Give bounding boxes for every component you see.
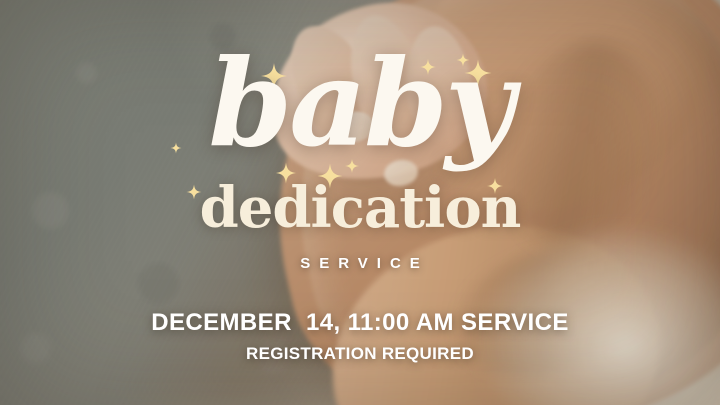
event-date-time: DECEMBER 14, 11:00 AM SERVICE [0,311,720,335]
slide-canvas: baby dedication SERVICE DECEMBER 14, 11:… [0,0,720,405]
headline-baby: baby [0,44,720,164]
headline-dedication: dedication [0,180,720,236]
headline-service: SERVICE [0,256,720,271]
title-block: baby dedication SERVICE DECEMBER 14, 11:… [0,0,720,405]
registration-note: REGISTRATION REQUIRED [0,345,720,362]
